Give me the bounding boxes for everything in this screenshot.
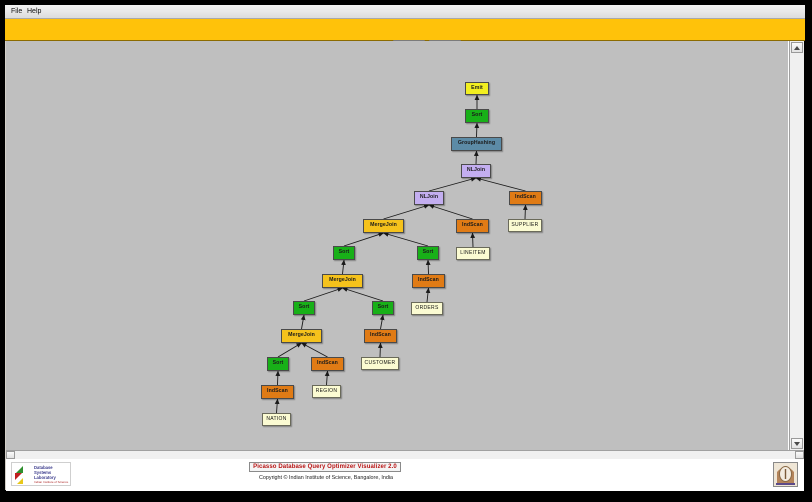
scroll-up-arrow[interactable] bbox=[791, 42, 803, 53]
operator-node-mergejoin[interactable]: MergeJoin bbox=[363, 219, 404, 233]
node-label: ORDERS bbox=[415, 306, 438, 311]
copyright-text: Copyright © Indian Institute of Science,… bbox=[6, 475, 646, 481]
plan-canvas-container: EmitSortGroupHashingNLJoinNLJoinIndScanS… bbox=[6, 41, 804, 458]
relation-node-customer[interactable]: CUSTOMER bbox=[361, 357, 399, 370]
operator-node-indscan[interactable]: IndScan bbox=[456, 219, 489, 233]
node-label: IndScan bbox=[515, 195, 536, 200]
picasso-thumbnail-icon[interactable] bbox=[773, 462, 798, 487]
operator-node-indscan[interactable]: IndScan bbox=[364, 329, 397, 343]
node-label: Sort bbox=[378, 305, 389, 310]
relation-node-region[interactable]: REGION bbox=[312, 385, 341, 398]
dsl-logo: Database Systems Laboratory Indian Insti… bbox=[11, 462, 71, 486]
node-label: LINEITEM bbox=[460, 251, 485, 256]
node-label: IndScan bbox=[267, 389, 288, 394]
operator-node-sort[interactable]: Sort bbox=[417, 246, 439, 260]
node-label: SUPPLIER bbox=[511, 223, 538, 228]
relation-node-orders[interactable]: ORDERS bbox=[411, 302, 443, 315]
operator-node-indscan[interactable]: IndScan bbox=[261, 385, 294, 399]
operator-node-mergejoin[interactable]: MergeJoin bbox=[322, 274, 363, 288]
node-label: NATION bbox=[266, 417, 286, 422]
node-label: IndScan bbox=[418, 278, 439, 283]
main-window: File Help Plan : PS Zoom In Zoom Out bbox=[4, 4, 804, 491]
operator-node-nljoin[interactable]: NLJoin bbox=[461, 164, 491, 178]
operator-node-nljoin[interactable]: NLJoin bbox=[414, 191, 444, 205]
node-label: Sort bbox=[339, 250, 350, 255]
node-label: IndScan bbox=[462, 223, 483, 228]
node-label: Emit bbox=[471, 86, 483, 91]
menu-item-file[interactable]: File bbox=[8, 7, 25, 17]
menu-bar: File Help bbox=[5, 5, 805, 19]
operator-node-indscan[interactable]: IndScan bbox=[412, 274, 445, 288]
node-label: GroupHashing bbox=[458, 141, 495, 146]
relation-node-lineitem[interactable]: LINEITEM bbox=[456, 247, 490, 260]
dsl-logo-subtitle: Indian Institute of Science bbox=[34, 481, 68, 484]
node-label: IndScan bbox=[370, 333, 391, 338]
relation-node-nation[interactable]: NATION bbox=[262, 413, 291, 426]
node-label: Sort bbox=[299, 305, 310, 310]
operator-node-mergejoin[interactable]: MergeJoin bbox=[281, 329, 322, 343]
operator-node-sort[interactable]: Sort bbox=[293, 301, 315, 315]
triangle-down-icon bbox=[794, 442, 800, 446]
application-root: File Help Plan : PS Zoom In Zoom Out bbox=[0, 0, 812, 502]
plan-canvas[interactable]: EmitSortGroupHashingNLJoinNLJoinIndScanS… bbox=[6, 41, 788, 450]
node-label: IndScan bbox=[317, 361, 338, 366]
operator-node-indscan[interactable]: IndScan bbox=[311, 357, 344, 371]
scroll-right-arrow[interactable] bbox=[795, 451, 804, 459]
leaf-green-icon bbox=[16, 466, 23, 473]
operator-node-indscan[interactable]: IndScan bbox=[509, 191, 542, 205]
app-title-badge: Picasso Database Query Optimizer Visuali… bbox=[249, 462, 401, 472]
node-label: Sort bbox=[273, 361, 284, 366]
scroll-left-arrow[interactable] bbox=[6, 451, 15, 459]
node-label: NLJoin bbox=[467, 168, 485, 173]
operator-node-grouphashing[interactable]: GroupHashing bbox=[451, 137, 502, 151]
operator-node-emit[interactable]: Emit bbox=[465, 82, 489, 95]
operator-node-sort[interactable]: Sort bbox=[267, 357, 289, 371]
node-label: Sort bbox=[472, 113, 483, 118]
operator-node-sort[interactable]: Sort bbox=[333, 246, 355, 260]
vertical-scrollbar[interactable] bbox=[789, 41, 804, 450]
scroll-down-arrow[interactable] bbox=[791, 438, 803, 449]
node-label: NLJoin bbox=[420, 195, 438, 200]
node-label: REGION bbox=[316, 389, 338, 394]
toolbar: Plan : PS Zoom In Zoom Out bbox=[5, 19, 805, 41]
triangle-up-icon bbox=[794, 46, 800, 50]
plan-tree-nodes: EmitSortGroupHashingNLJoinNLJoinIndScanS… bbox=[6, 41, 788, 450]
operator-node-sort[interactable]: Sort bbox=[465, 109, 489, 123]
node-label: MergeJoin bbox=[288, 333, 315, 338]
footer: Database Systems Laboratory Indian Insti… bbox=[6, 459, 804, 491]
menu-item-help[interactable]: Help bbox=[24, 7, 44, 17]
relation-node-supplier[interactable]: SUPPLIER bbox=[508, 219, 542, 232]
node-label: MergeJoin bbox=[370, 223, 397, 228]
node-label: MergeJoin bbox=[329, 278, 356, 283]
operator-node-sort[interactable]: Sort bbox=[372, 301, 394, 315]
node-label: Sort bbox=[423, 250, 434, 255]
horizontal-scrollbar[interactable] bbox=[6, 450, 804, 459]
node-label: CUSTOMER bbox=[365, 361, 396, 366]
